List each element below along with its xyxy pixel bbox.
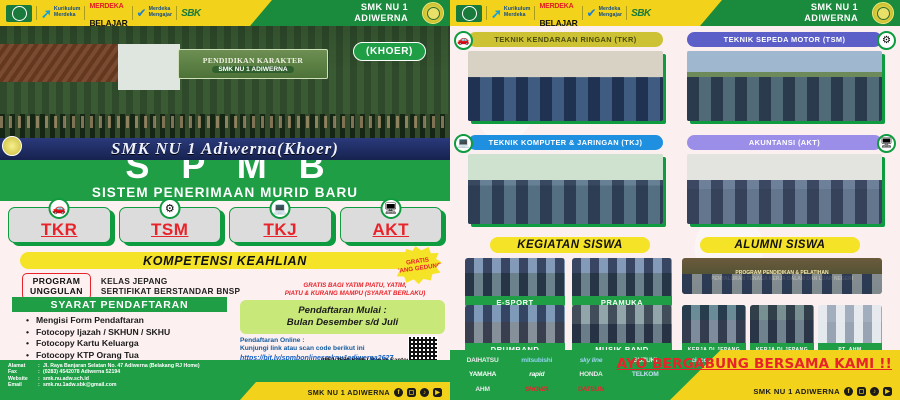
- youtube-icon[interactable]: ▶: [433, 388, 442, 397]
- monitor-chart-icon: 🖥: [380, 198, 401, 219]
- kompetensi-bar-label: KOMPETENSI KEAHLIAN: [143, 254, 307, 268]
- school-name-header: SMK NU 1 ADIWERNA: [804, 2, 858, 23]
- divider: [582, 6, 583, 20]
- school-line1: SMK NU 1: [361, 2, 408, 12]
- alumni-photo: [750, 305, 814, 343]
- alumni-banner-photo: PROGRAM PENDIDIKAN & PELATIHAN PENYALURA…: [682, 258, 882, 294]
- seal-icon: [2, 136, 22, 156]
- tiktok-icon[interactable]: ♪: [420, 388, 429, 397]
- left-panel: ➚ KurikulumMerdeka MERDEKABELAJAR ✔ Merd…: [0, 0, 450, 400]
- daihatsu-logo: DAIHATSU: [456, 357, 509, 364]
- partner-logo-strip: ➚ KurikulumMerdeka MERDEKABELAJAR ✔ Merd…: [456, 3, 650, 23]
- pendaftaran-line1: Pendaftaran Mulai :: [298, 305, 387, 317]
- major-tsm-label: TSM: [151, 220, 188, 240]
- merdeka-belajar-logo: MERDEKABELAJAR: [539, 0, 577, 31]
- checkmark-icon: ✔: [587, 7, 597, 19]
- alumni-siswa-heading: ALUMNI SISWA: [700, 237, 860, 253]
- list-item: Fotocopy Ijazah / SKHUN / SKHU: [26, 327, 241, 339]
- runner-icon: ➚: [491, 7, 502, 20]
- khoer-badge: (KHOER): [353, 42, 426, 61]
- school-photo: PENDIDIKAN KARAKTER SMK NU 1 ADIWERNA: [0, 22, 450, 142]
- join-cta: AYO BERGABUNG BERSAMA KAMI !!: [617, 356, 892, 372]
- merdeka-word: MERDEKA: [89, 3, 123, 10]
- monitor-chart-icon: 🖥: [877, 134, 896, 153]
- ahm-logo: AHM: [456, 386, 509, 393]
- school-line2: ADIWERNA: [804, 13, 858, 23]
- facebook-icon[interactable]: f: [844, 387, 853, 396]
- nu-logo: [6, 5, 32, 22]
- topbar-green-wedge: [250, 0, 450, 26]
- kegiatan-card-musikband[interactable]: MUSIK BAND: [572, 305, 672, 356]
- kegiatan-photo: [572, 305, 672, 343]
- car-glyph: 🚗: [457, 35, 469, 46]
- motorcycle-glyph: ⚙: [165, 202, 175, 215]
- youtube-icon[interactable]: ▶: [883, 387, 892, 396]
- program-label-tkr: TEKNIK KENDARAAN RINGAN (TKR): [468, 32, 663, 47]
- banner-sign-line1: PENDIDIKAN KARAKTER: [203, 56, 303, 65]
- list-item: Mengisi Form Pendaftaran: [26, 315, 241, 327]
- divider: [84, 6, 85, 20]
- kegiatan-siswa-heading: KEGIATAN SISWA: [490, 237, 650, 253]
- left-footer: Alamat:Jl. Raya Banjaran Selatan No. 47 …: [0, 360, 450, 400]
- alumni-photo: [818, 305, 882, 343]
- mitsubishi-logo: mitsubishi: [510, 357, 563, 364]
- promotional-banner: ➚ KurikulumMerdeka MERDEKABELAJAR ✔ Merd…: [0, 0, 900, 400]
- kegiatan-heading-label: KEGIATAN SISWA: [517, 239, 623, 251]
- belajar-word: BELAJAR: [89, 18, 127, 28]
- major-tkr-label: TKR: [41, 220, 77, 240]
- mengajar-line2: Mengajar: [599, 12, 623, 18]
- contact-row: Email:smk.nu.1adw.sbk@gmail.com: [8, 382, 200, 388]
- major-tkj[interactable]: 💻 TKJ: [229, 207, 332, 243]
- right-footer-brand: SMK NU 1 ADIWERNA f ▢ ♪ ▶: [753, 387, 892, 396]
- program-text-line2: SERTIFIKAT BERSTANDAR BNSP: [101, 287, 240, 297]
- divider: [626, 6, 627, 20]
- contact-block: Alamat:Jl. Raya Banjaran Selatan No. 47 …: [8, 363, 200, 389]
- kompetensi-bar: KOMPETENSI KEAHLIAN: [20, 252, 430, 269]
- list-item: Fotocopy Kartu Keluarga: [26, 338, 241, 350]
- laptop-glyph: 💻: [457, 138, 469, 149]
- yamaha-logo: YAMAHA: [456, 371, 509, 378]
- major-tkr[interactable]: 🚗 TKR: [8, 207, 111, 243]
- left-footer-brand: SMK NU 1 ADIWERNA f ▢ ♪ ▶: [308, 388, 442, 397]
- kegiatan-card-drumband[interactable]: DRUMBAND: [465, 305, 565, 356]
- program-label-akt: AKUNTANSI (AKT): [687, 135, 882, 150]
- right-panel: ➚ KurikulumMerdeka MERDEKABELAJAR ✔ Merd…: [450, 0, 900, 400]
- car-icon: 🚗: [454, 31, 473, 50]
- merdeka-mengajar-logo: ✔ MerdekaMengajar: [587, 7, 623, 19]
- major-akt-label: AKT: [373, 220, 409, 240]
- kegiatan-card-esport[interactable]: E-SPORT: [465, 258, 565, 309]
- motorcycle-glyph: ⚙: [882, 35, 891, 46]
- telkom-logo: TELKOM: [619, 371, 672, 378]
- laptop-glyph: 💻: [273, 202, 287, 215]
- topbar-green-wedge: [700, 0, 900, 26]
- monitor-glyph: 🖥: [384, 202, 398, 215]
- school-line1: SMK NU 1: [811, 2, 858, 12]
- kurikulum-merdeka-logo: ➚ KurikulumMerdeka: [41, 7, 80, 20]
- instagram-icon[interactable]: ▢: [857, 387, 866, 396]
- rapid-logo: rapid: [510, 371, 563, 378]
- divider: [36, 6, 37, 20]
- footer-brand-label: SMK NU 1 ADIWERNA: [753, 387, 840, 396]
- program-photo-tsm: [687, 51, 882, 121]
- roof-area: [0, 44, 120, 82]
- program-photo-tkr: [468, 51, 663, 121]
- program-card-tsm[interactable]: ⚙ TEKNIK SEPEDA MOTOR (TSM): [687, 32, 882, 121]
- banner-sign: PENDIDIKAN KARAKTER SMK NU 1 ADIWERNA: [178, 49, 328, 79]
- tiktok-icon[interactable]: ♪: [870, 387, 879, 396]
- program-card-tkj[interactable]: 💻 TEKNIK KOMPUTER & JARINGAN (TKJ): [468, 135, 663, 224]
- school-name-header: SMK NU 1 ADIWERNA: [354, 2, 408, 23]
- kurikulum-merdeka-logo: ➚ KurikulumMerdeka: [491, 7, 530, 20]
- merdeka-word: MERDEKA: [539, 3, 573, 10]
- gratis-note: GRATIS BAGI YATIM PIATU, YATIM, PIATU & …: [266, 282, 444, 297]
- major-akt[interactable]: 🖥 AKT: [340, 207, 443, 243]
- divider: [486, 6, 487, 20]
- program-photo-tkj: [468, 154, 663, 224]
- kegiatan-photo: [465, 258, 565, 296]
- contact-key: Email: [8, 382, 38, 388]
- runner-icon: ➚: [41, 7, 52, 20]
- school-crest-icon: [422, 2, 444, 24]
- syarat-heading: SYARAT PENDAFTARAN: [12, 297, 227, 312]
- school-line2: ADIWERNA: [354, 13, 408, 23]
- program-text-line1: KELAS JEPANG: [101, 277, 240, 287]
- checkmark-icon: ✔: [137, 7, 147, 19]
- divider: [132, 6, 133, 20]
- merdeka-belajar-logo: MERDEKABELAJAR: [89, 0, 127, 31]
- program-badge-line2: UNGGULAN: [30, 287, 83, 297]
- alumni-card-jepang-1[interactable]: KERJA DI JEPANG: [682, 305, 746, 356]
- left-topbar: ➚ KurikulumMerdeka MERDEKABELAJAR ✔ Merd…: [0, 0, 450, 26]
- pendaftaran-line2: Bulan Desember s/d Juli: [287, 317, 398, 329]
- banner-sign-line2: SMK NU 1 ADIWERNA: [212, 66, 293, 73]
- motorcycle-icon: ⚙: [159, 198, 180, 219]
- program-unggulan-badge: PROGRAM UNGGULAN: [22, 273, 91, 300]
- school-crest-icon: [872, 2, 894, 24]
- motorcycle-icon: ⚙: [877, 31, 896, 50]
- facebook-icon[interactable]: f: [394, 388, 403, 397]
- skyline-logo: sky line: [564, 357, 617, 364]
- alumni-photo: [682, 305, 746, 343]
- program-card-akt[interactable]: 🖥 AKUNTANSI (AKT): [687, 135, 882, 224]
- syarat-heading-label: SYARAT PENDAFTARAN: [51, 299, 189, 311]
- kegiatan-photo: [465, 305, 565, 343]
- nu-logo: [456, 5, 482, 22]
- right-footer: DAIHATSU mitsubishi sky line SUZUKI cisc…: [450, 350, 900, 400]
- right-topbar: ➚ KurikulumMerdeka MERDEKABELAJAR ✔ Merd…: [450, 0, 900, 26]
- building-wall: [118, 44, 180, 90]
- gratis-note-line2: PIATU & KURANG MAMPU (SYARAT BERLAKU): [266, 290, 444, 298]
- kurikulum-line2: Merdeka: [54, 12, 76, 18]
- program-photo-akt: [687, 154, 882, 224]
- kegiatan-photo: [572, 258, 672, 296]
- program-label-tsm: TEKNIK SEPEDA MOTOR (TSM): [687, 32, 882, 47]
- belajar-word: BELAJAR: [539, 18, 577, 28]
- contact-value[interactable]: smk.nu.1adw.sbk@gmail.com: [43, 382, 116, 388]
- mengajar-line2: Mengajar: [149, 12, 173, 18]
- gratis-note-line1: GRATIS BAGI YATIM PIATU, YATIM,: [266, 282, 444, 290]
- alumni-card-ahm[interactable]: PT. AHM: [818, 305, 882, 356]
- showa-logo: SHOWA: [510, 386, 563, 393]
- car-icon: 🚗: [49, 198, 70, 219]
- partner-logo-strip: ➚ KurikulumMerdeka MERDEKABELAJAR ✔ Merd…: [6, 3, 200, 23]
- major-tsm[interactable]: ⚙ TSM: [119, 207, 222, 243]
- program-card-tkr[interactable]: 🚗 TEKNIK KENDARAAN RINGAN (TKR): [468, 32, 663, 121]
- merdeka-mengajar-logo: ✔ MerdekaMengajar: [137, 7, 173, 19]
- instagram-icon[interactable]: ▢: [407, 388, 416, 397]
- monitor-glyph: 🖥: [880, 138, 893, 149]
- major-tkj-label: TKJ: [263, 220, 297, 240]
- sbk-logo: SBK: [181, 8, 200, 19]
- sbk-logo: SBK: [631, 8, 650, 19]
- program-label-tkj: TEKNIK KOMPUTER & JARINGAN (TKJ): [468, 135, 663, 150]
- pendaftaran-mulai-box: Pendaftaran Mulai : Bulan Desember s/d J…: [240, 300, 445, 334]
- alumni-card-jepang-2[interactable]: KERJA DI JEPANG: [750, 305, 814, 356]
- footer-brand-label: SMK NU 1 ADIWERNA: [308, 388, 390, 397]
- car-glyph: 🚗: [52, 202, 66, 215]
- datsun-logo: DATSUN: [564, 386, 617, 393]
- alumni-banner: PROGRAM PENDIDIKAN & PELATIHAN PENYALURA…: [682, 258, 882, 294]
- alumni-heading-label: ALUMNI SISWA: [735, 239, 826, 251]
- spmb-subtitle: SISTEM PENERIMAAN MURID BARU: [92, 185, 358, 200]
- divider: [534, 6, 535, 20]
- school-name-ribbon: SMK NU 1 Adiwerna(Khoer): [0, 138, 450, 160]
- laptop-icon: 💻: [270, 198, 291, 219]
- honda-logo: HONDA: [564, 371, 617, 378]
- major-buttons: 🚗 TKR ⚙ TSM 💻 TKJ 🖥 AKT: [8, 207, 442, 243]
- laptop-icon: 💻: [454, 134, 473, 153]
- divider: [176, 6, 177, 20]
- school-ribbon-text: SMK NU 1 Adiwerna(Khoer): [111, 139, 339, 159]
- program-unggulan-text: KELAS JEPANG SERTIFIKAT BERSTANDAR BNSP: [101, 277, 240, 297]
- kegiatan-card-pramuka[interactable]: PRAMUKA: [572, 258, 672, 309]
- kurikulum-line2: Merdeka: [504, 12, 526, 18]
